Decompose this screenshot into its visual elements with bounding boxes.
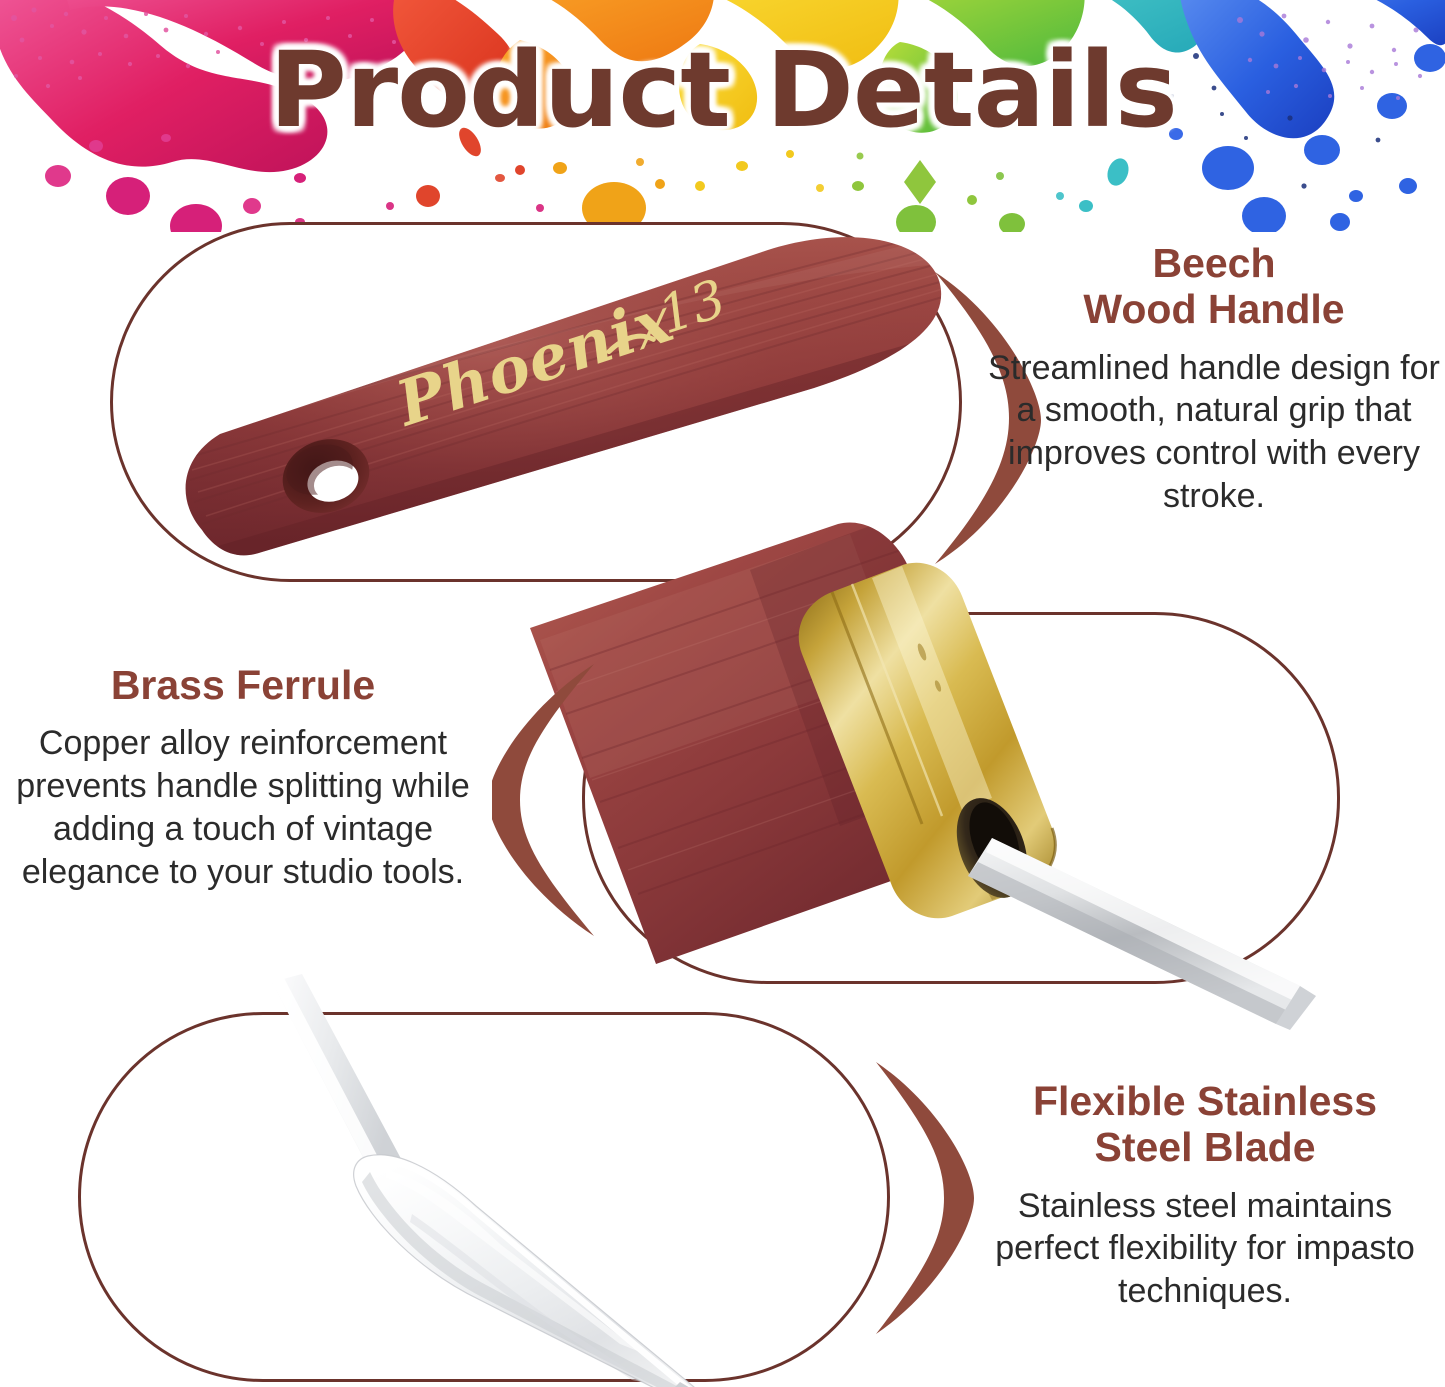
feature-body-2: Copper alloy reinforcement prevents hand… — [8, 722, 478, 893]
blade-neck — [272, 974, 406, 1182]
speckle-mid — [295, 153, 1064, 227]
steel-blade-tang — [968, 838, 1316, 1030]
feature-heading-3-line-2: Steel Blade — [966, 1124, 1444, 1170]
feature-heading-1: Beech Wood Handle — [988, 240, 1440, 333]
blade-body — [354, 1155, 704, 1387]
feature-text-beech-wood-handle: Beech Wood Handle Streamlined handle des… — [988, 240, 1440, 518]
page-title: Product Details — [269, 36, 1177, 144]
feature-heading-2: Brass Ferrule — [8, 662, 478, 708]
feature-body-1: Streamlined handle design for a smooth, … — [988, 347, 1440, 518]
page-title-container: Product Details — [0, 36, 1445, 144]
feature-text-brass-ferrule: Brass Ferrule Copper alloy reinforcement… — [8, 662, 478, 894]
feature-body-3: Stainless steel maintains perfect flexib… — [966, 1185, 1444, 1313]
feature-heading-3-line-1: Flexible Stainless — [966, 1078, 1444, 1124]
crescent-accent-3 — [866, 1058, 978, 1338]
feature-heading-1-line-2: Wood Handle — [988, 286, 1440, 332]
product-details-infographic: Product Details — [0, 0, 1445, 1387]
feature-text-steel-blade: Flexible Stainless Steel Blade Stainless… — [966, 1078, 1444, 1313]
feature-heading-1-line-1: Beech — [988, 240, 1440, 286]
feature-heading-3: Flexible Stainless Steel Blade — [966, 1078, 1444, 1171]
header-banner: Product Details — [0, 0, 1445, 232]
feature-heading-2-line-1: Brass Ferrule — [8, 662, 478, 708]
photo-brass-ferrule — [600, 600, 1360, 1000]
crescent-accent-2 — [492, 660, 604, 940]
photo-steel-blade — [180, 1000, 920, 1387]
